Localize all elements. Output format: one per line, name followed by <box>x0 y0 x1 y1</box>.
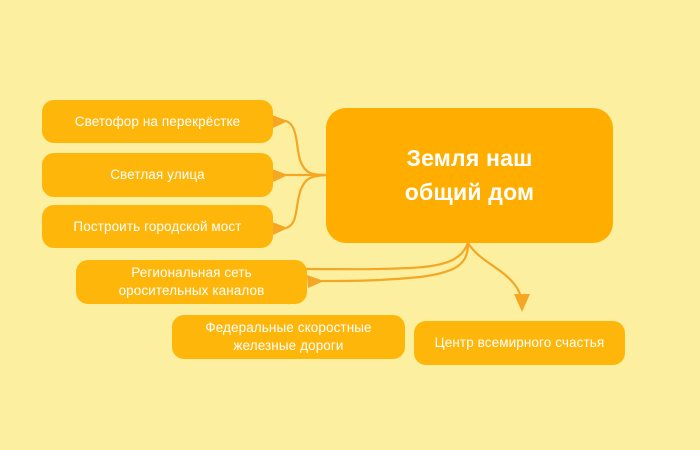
branch-node-label: Федеральные скоростные железные дороги <box>186 319 391 355</box>
connector-center-to-city-bridge-arrowhead <box>272 222 288 235</box>
branch-node-high-speed-rail[interactable]: Федеральные скоростные железные дороги <box>172 315 405 359</box>
mindmap-canvas: Земля наш общий дом Светофор на перекрёс… <box>0 0 700 450</box>
connector-center-to-irrigation-network-arrowhead <box>307 275 324 288</box>
connector-center-to-traffic-light-arrowhead <box>272 115 288 128</box>
branch-node-label: Центр всемирного счастья <box>428 334 611 352</box>
branch-node-label: Региональная сеть оросительных каналов <box>90 264 293 300</box>
center-node[interactable]: Земля наш общий дом <box>326 108 613 243</box>
connector-center-to-irrigation-network-upper <box>306 243 468 269</box>
connector-center-to-city-bridge <box>286 175 326 228</box>
connector-center-to-irrigation-network <box>322 243 468 281</box>
branch-node-irrigation-network[interactable]: Региональная сеть оросительных каналов <box>76 260 307 304</box>
connector-center-to-traffic-light <box>286 121 326 175</box>
branch-node-label: Светофор на перекрёстке <box>56 113 259 131</box>
branch-node-city-bridge[interactable]: Построить городской мост <box>42 205 273 248</box>
center-node-label: Земля наш общий дом <box>340 142 599 209</box>
branch-node-label: Построить городской мост <box>56 218 259 236</box>
branch-node-bright-street[interactable]: Светлая улица <box>42 153 273 197</box>
branch-node-happiness-center[interactable]: Центр всемирного счастья <box>414 321 625 365</box>
connector-center-to-bright-street-arrowhead <box>272 169 288 182</box>
connector-center-to-happiness-center-arrowhead <box>514 294 530 312</box>
connector-center-to-happiness-center <box>468 243 522 308</box>
branch-node-traffic-light[interactable]: Светофор на перекрёстке <box>42 100 273 143</box>
branch-node-label: Светлая улица <box>56 166 259 184</box>
